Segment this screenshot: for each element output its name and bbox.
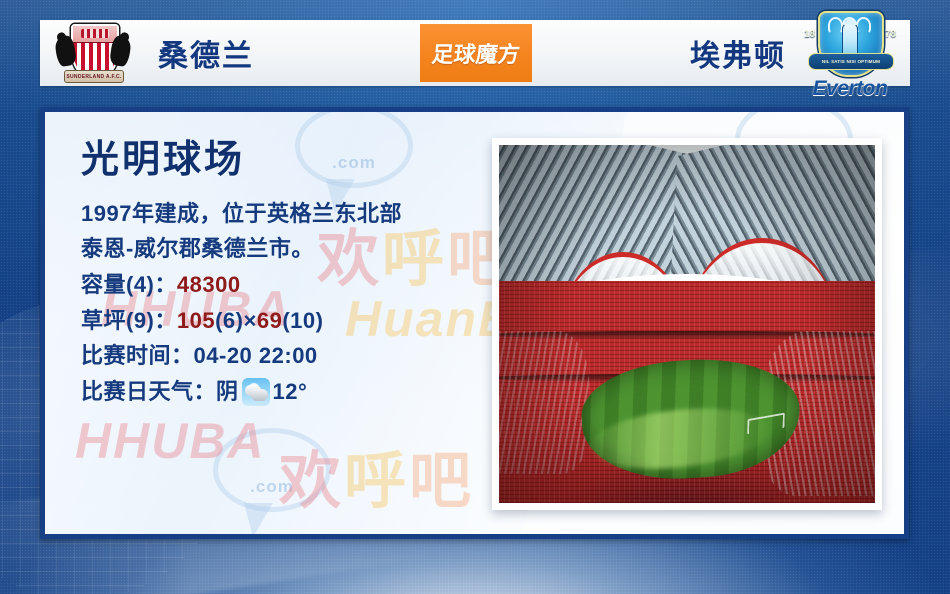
pitch-row: 草坪(9)：105(6)×69(10)	[81, 303, 501, 339]
sunderland-ribbon-text: SUNDERLAND A.F.C.	[66, 74, 121, 80]
pitch-label: 草坪(9)：	[81, 308, 177, 333]
pitch-width-value: 69	[257, 308, 282, 333]
stadium-description-line-2: 泰恩-威尔郡桑德兰市。	[81, 231, 501, 267]
home-team-block[interactable]: SUNDERLAND A.F.C. 桑德兰	[40, 20, 420, 86]
stadium-info-block: 光明球场 1997年建成，位于英格兰东北部 泰恩-威尔郡桑德兰市。 容量(4)：…	[81, 140, 501, 410]
watermark-hhuba-bottom: HHUBA	[75, 412, 266, 470]
capacity-label: 容量(4)：	[81, 272, 177, 297]
pitch-length-rank: (6)	[215, 308, 243, 333]
match-weather-condition: 阴	[216, 374, 239, 410]
site-logo[interactable]: 足球魔方	[420, 24, 532, 82]
watermark-cn-bottom-char-3: 吧	[409, 447, 474, 516]
pitch-width-rank: (10)	[282, 308, 323, 333]
pitch-length-value: 105	[177, 308, 215, 333]
stadium-description-line-1: 1997年建成，位于英格兰东北部	[81, 196, 501, 232]
match-weather-temperature: 12°	[273, 374, 308, 410]
stadium-info-card: .com .com .com HHUBA HuanBa HHUBA 欢呼吧 欢呼…	[40, 107, 909, 539]
match-time-value: 04-20 22:00	[194, 343, 318, 368]
everton-club-name: Everton	[802, 77, 898, 101]
pitch-separator: ×	[244, 308, 257, 333]
stadium-photo-frame[interactable]	[492, 138, 882, 510]
watermark-cn-bottom-char-1: 欢	[279, 447, 344, 516]
watermark-cn-bottom: 欢呼吧	[279, 430, 474, 520]
match-time-label: 比赛时间：	[81, 343, 194, 368]
away-team-block[interactable]: 埃弗顿 18 78 NIL SATIS NISI OPTIMUM Everton	[532, 5, 910, 101]
everton-year-right: 78	[885, 29, 896, 40]
cloudy-icon	[242, 378, 270, 406]
everton-year-left: 18	[804, 29, 815, 40]
photo-vignette	[499, 145, 875, 503]
match-stadium-card-page: SUNDERLAND A.F.C. 桑德兰 足球魔方 埃弗顿 18 78 NIL…	[0, 0, 950, 594]
match-time-row: 比赛时间：04-20 22:00	[81, 338, 501, 374]
match-header-bar: SUNDERLAND A.F.C. 桑德兰 足球魔方 埃弗顿 18 78 NIL…	[40, 20, 910, 86]
everton-wreath-left-icon	[828, 17, 843, 34]
capacity-value: 48300	[177, 272, 241, 297]
watermark-bubble-text-tertiary: .com	[250, 477, 294, 497]
match-weather-row: 比赛日天气：阴12°	[81, 374, 501, 410]
sunderland-crest: SUNDERLAND A.F.C.	[54, 20, 132, 86]
away-team-name: 埃弗顿	[690, 31, 786, 75]
stadium-photo	[499, 145, 875, 503]
everton-motto-text: NIL SATIS NISI OPTIMUM	[822, 59, 880, 64]
sunderland-ribbon: SUNDERLAND A.F.C.	[64, 70, 124, 83]
everton-tower-icon	[842, 23, 858, 57]
stadium-name-title: 光明球场	[81, 140, 501, 182]
home-team-name: 桑德兰	[158, 31, 254, 75]
site-logo-text: 足球魔方	[430, 37, 521, 69]
everton-motto-scroll: NIL SATIS NISI OPTIMUM	[808, 53, 894, 70]
watermark-speech-bubble-tertiary: .com	[213, 428, 331, 512]
everton-wreath-right-icon	[856, 17, 871, 34]
match-weather-label: 比赛日天气：	[81, 374, 216, 410]
capacity-row: 容量(4)：48300	[81, 267, 501, 303]
everton-crest: 18 78 NIL SATIS NISI OPTIMUM Everton	[802, 9, 898, 101]
cloudy-icon-cloud-front	[251, 389, 268, 401]
watermark-cn-bottom-char-2: 呼	[344, 447, 409, 516]
